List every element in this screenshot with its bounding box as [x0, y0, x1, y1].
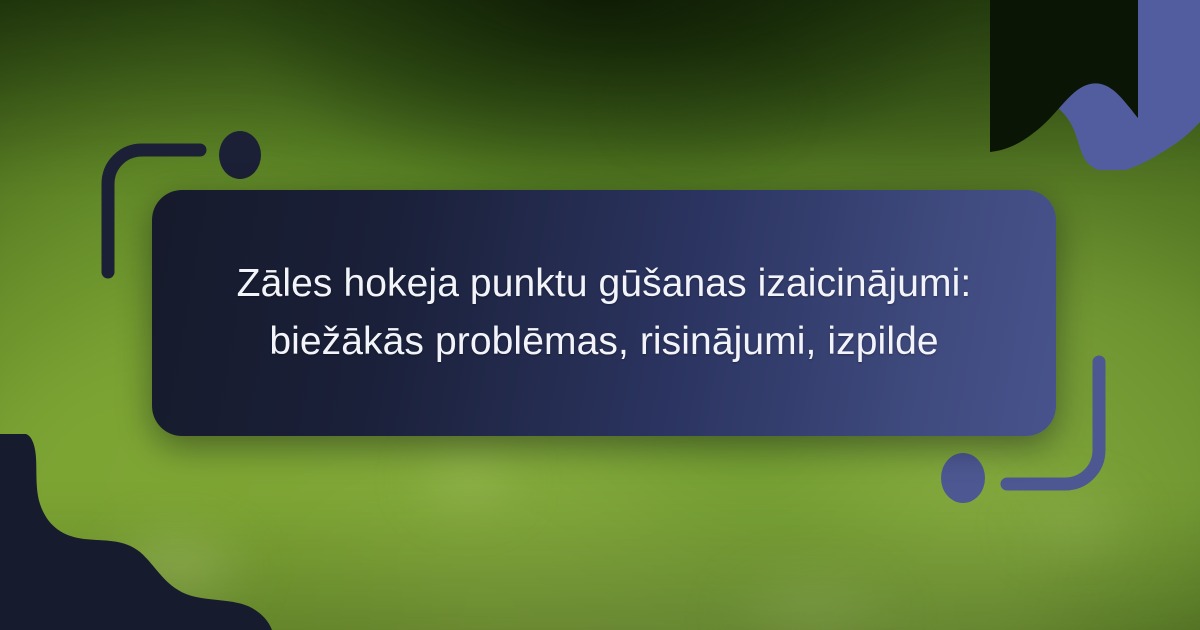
accent-dot-bottom-right: [941, 453, 985, 503]
accent-dot-top-left: [219, 131, 261, 179]
page-title: Zāles hokeja punktu gūšanas izaicinājumi…: [185, 255, 1024, 371]
organic-blob-top-right-shadow: [990, 0, 1138, 152]
share-card-canvas: Zāles hokeja punktu gūšanas izaicinājumi…: [0, 0, 1200, 630]
title-card: Zāles hokeja punktu gūšanas izaicinājumi…: [152, 190, 1056, 436]
organic-blob-bottom-left: [0, 434, 272, 630]
